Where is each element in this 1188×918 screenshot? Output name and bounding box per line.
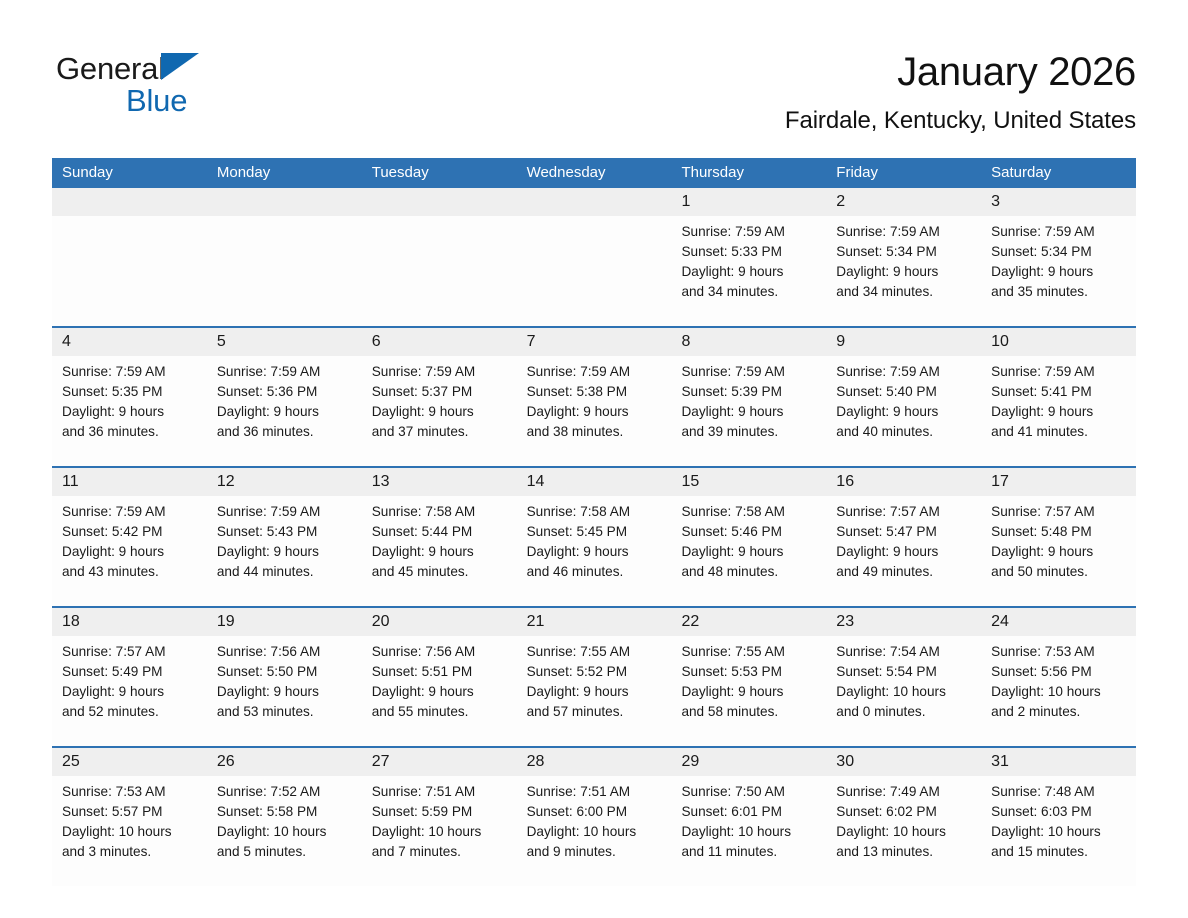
sunset-time: Sunset: 5:34 PM <box>836 242 973 262</box>
sunrise-time: Sunrise: 7:59 AM <box>62 502 199 522</box>
day-number: 19 <box>207 608 362 636</box>
sunrise-time: Sunrise: 7:55 AM <box>681 642 818 662</box>
daylight-duration-line2: and 11 minutes. <box>681 842 818 862</box>
day-cell[interactable]: 17Sunrise: 7:57 AMSunset: 5:48 PMDayligh… <box>981 468 1136 606</box>
sunset-time: Sunset: 6:00 PM <box>527 802 664 822</box>
daylight-duration-line1: Daylight: 9 hours <box>372 682 509 702</box>
day-number: 11 <box>52 468 207 496</box>
day-cell[interactable]: 16Sunrise: 7:57 AMSunset: 5:47 PMDayligh… <box>826 468 981 606</box>
weekday-header-monday: Monday <box>207 158 362 188</box>
day-cell[interactable]: 13Sunrise: 7:58 AMSunset: 5:44 PMDayligh… <box>362 468 517 606</box>
day-cell[interactable]: 20Sunrise: 7:56 AMSunset: 5:51 PMDayligh… <box>362 608 517 746</box>
sunrise-time: Sunrise: 7:59 AM <box>681 222 818 242</box>
sunrise-time: Sunrise: 7:57 AM <box>62 642 199 662</box>
sunrise-time: Sunrise: 7:59 AM <box>836 222 973 242</box>
daylight-duration-line1: Daylight: 9 hours <box>62 542 199 562</box>
daylight-duration-line1: Daylight: 9 hours <box>527 682 664 702</box>
daylight-duration-line2: and 7 minutes. <box>372 842 509 862</box>
day-number <box>362 188 517 216</box>
sunset-time: Sunset: 5:36 PM <box>217 382 354 402</box>
day-cell[interactable]: 24Sunrise: 7:53 AMSunset: 5:56 PMDayligh… <box>981 608 1136 746</box>
sunrise-time: Sunrise: 7:59 AM <box>991 362 1128 382</box>
day-number: 27 <box>362 748 517 776</box>
day-details: Sunrise: 7:56 AMSunset: 5:51 PMDaylight:… <box>362 636 517 722</box>
sunrise-time: Sunrise: 7:56 AM <box>217 642 354 662</box>
day-details: Sunrise: 7:56 AMSunset: 5:50 PMDaylight:… <box>207 636 362 722</box>
day-cell[interactable]: 10Sunrise: 7:59 AMSunset: 5:41 PMDayligh… <box>981 328 1136 466</box>
day-number: 2 <box>826 188 981 216</box>
page-header: General Blue January 2026 Fairdale, Kent… <box>0 0 1188 100</box>
daylight-duration-line1: Daylight: 9 hours <box>681 542 818 562</box>
sunrise-time: Sunrise: 7:59 AM <box>217 502 354 522</box>
sunrise-time: Sunrise: 7:59 AM <box>372 362 509 382</box>
day-details: Sunrise: 7:58 AMSunset: 5:44 PMDaylight:… <box>362 496 517 582</box>
day-number: 16 <box>826 468 981 496</box>
daylight-duration-line2: and 55 minutes. <box>372 702 509 722</box>
calendar-week-row: 4Sunrise: 7:59 AMSunset: 5:35 PMDaylight… <box>52 326 1136 466</box>
weekday-header-thursday: Thursday <box>671 158 826 188</box>
daylight-duration-line1: Daylight: 9 hours <box>372 402 509 422</box>
day-cell[interactable]: 11Sunrise: 7:59 AMSunset: 5:42 PMDayligh… <box>52 468 207 606</box>
sunset-time: Sunset: 5:44 PM <box>372 522 509 542</box>
day-details: Sunrise: 7:57 AMSunset: 5:47 PMDaylight:… <box>826 496 981 582</box>
daylight-duration-line1: Daylight: 10 hours <box>217 822 354 842</box>
weekday-header-tuesday: Tuesday <box>362 158 517 188</box>
weekday-header-saturday: Saturday <box>981 158 1136 188</box>
daylight-duration-line2: and 5 minutes. <box>217 842 354 862</box>
day-details: Sunrise: 7:52 AMSunset: 5:58 PMDaylight:… <box>207 776 362 862</box>
generalblue-logo[interactable]: General Blue <box>56 52 236 118</box>
calendar-week-row: 1Sunrise: 7:59 AMSunset: 5:33 PMDaylight… <box>52 188 1136 326</box>
day-details: Sunrise: 7:54 AMSunset: 5:54 PMDaylight:… <box>826 636 981 722</box>
sunset-time: Sunset: 5:43 PM <box>217 522 354 542</box>
day-details: Sunrise: 7:59 AMSunset: 5:33 PMDaylight:… <box>671 216 826 302</box>
daylight-duration-line1: Daylight: 9 hours <box>681 262 818 282</box>
sunset-time: Sunset: 5:33 PM <box>681 242 818 262</box>
sunset-time: Sunset: 5:52 PM <box>527 662 664 682</box>
sunrise-time: Sunrise: 7:50 AM <box>681 782 818 802</box>
sunrise-time: Sunrise: 7:49 AM <box>836 782 973 802</box>
day-number <box>207 188 362 216</box>
daylight-duration-line2: and 44 minutes. <box>217 562 354 582</box>
daylight-duration-line2: and 48 minutes. <box>681 562 818 582</box>
day-cell[interactable]: 15Sunrise: 7:58 AMSunset: 5:46 PMDayligh… <box>671 468 826 606</box>
weekday-header-wednesday: Wednesday <box>517 158 672 188</box>
sunset-time: Sunset: 6:01 PM <box>681 802 818 822</box>
sunrise-time: Sunrise: 7:57 AM <box>836 502 973 522</box>
sunset-time: Sunset: 5:50 PM <box>217 662 354 682</box>
day-number: 26 <box>207 748 362 776</box>
daylight-duration-line2: and 13 minutes. <box>836 842 973 862</box>
sunrise-time: Sunrise: 7:59 AM <box>836 362 973 382</box>
day-details: Sunrise: 7:58 AMSunset: 5:45 PMDaylight:… <box>517 496 672 582</box>
calendar-week-row: 18Sunrise: 7:57 AMSunset: 5:49 PMDayligh… <box>52 606 1136 746</box>
logo-text-general: General <box>56 51 165 86</box>
day-details: Sunrise: 7:59 AMSunset: 5:35 PMDaylight:… <box>52 356 207 442</box>
daylight-duration-line2: and 46 minutes. <box>527 562 664 582</box>
day-cell[interactable]: 2Sunrise: 7:59 AMSunset: 5:34 PMDaylight… <box>826 188 981 326</box>
sunset-time: Sunset: 5:59 PM <box>372 802 509 822</box>
daylight-duration-line1: Daylight: 9 hours <box>217 542 354 562</box>
sunrise-time: Sunrise: 7:48 AM <box>991 782 1128 802</box>
daylight-duration-line2: and 39 minutes. <box>681 422 818 442</box>
day-details: Sunrise: 7:48 AMSunset: 6:03 PMDaylight:… <box>981 776 1136 862</box>
day-number: 12 <box>207 468 362 496</box>
day-number: 24 <box>981 608 1136 636</box>
day-details <box>517 216 672 222</box>
weekday-header-row: SundayMondayTuesdayWednesdayThursdayFrid… <box>52 158 1136 188</box>
sunset-time: Sunset: 5:58 PM <box>217 802 354 822</box>
sunset-time: Sunset: 5:42 PM <box>62 522 199 542</box>
daylight-duration-line2: and 34 minutes. <box>681 282 818 302</box>
daylight-duration-line1: Daylight: 10 hours <box>62 822 199 842</box>
sunrise-time: Sunrise: 7:52 AM <box>217 782 354 802</box>
daylight-duration-line1: Daylight: 9 hours <box>681 682 818 702</box>
daylight-duration-line1: Daylight: 9 hours <box>991 262 1128 282</box>
day-number: 15 <box>671 468 826 496</box>
daylight-duration-line2: and 37 minutes. <box>372 422 509 442</box>
day-details: Sunrise: 7:59 AMSunset: 5:39 PMDaylight:… <box>671 356 826 442</box>
sunset-time: Sunset: 5:46 PM <box>681 522 818 542</box>
day-cell[interactable]: 23Sunrise: 7:54 AMSunset: 5:54 PMDayligh… <box>826 608 981 746</box>
daylight-duration-line1: Daylight: 10 hours <box>836 822 973 842</box>
day-cell[interactable]: 9Sunrise: 7:59 AMSunset: 5:40 PMDaylight… <box>826 328 981 466</box>
day-details: Sunrise: 7:59 AMSunset: 5:42 PMDaylight:… <box>52 496 207 582</box>
daylight-duration-line1: Daylight: 9 hours <box>991 542 1128 562</box>
day-cell[interactable]: 22Sunrise: 7:55 AMSunset: 5:53 PMDayligh… <box>671 608 826 746</box>
calendar-week-row: 11Sunrise: 7:59 AMSunset: 5:42 PMDayligh… <box>52 466 1136 606</box>
sunrise-time: Sunrise: 7:59 AM <box>217 362 354 382</box>
sunset-time: Sunset: 5:45 PM <box>527 522 664 542</box>
daylight-duration-line2: and 36 minutes. <box>217 422 354 442</box>
logo-text-blue: Blue <box>56 84 236 118</box>
sunrise-time: Sunrise: 7:58 AM <box>527 502 664 522</box>
daylight-duration-line2: and 35 minutes. <box>991 282 1128 302</box>
logo-line-one: General <box>56 52 236 86</box>
day-cell[interactable]: 14Sunrise: 7:58 AMSunset: 5:45 PMDayligh… <box>517 468 672 606</box>
day-number: 7 <box>517 328 672 356</box>
day-number: 9 <box>826 328 981 356</box>
daylight-duration-line2: and 53 minutes. <box>217 702 354 722</box>
sunset-time: Sunset: 5:47 PM <box>836 522 973 542</box>
day-details <box>52 216 207 222</box>
day-cell[interactable]: 26Sunrise: 7:52 AMSunset: 5:58 PMDayligh… <box>207 748 362 886</box>
day-details: Sunrise: 7:53 AMSunset: 5:57 PMDaylight:… <box>52 776 207 862</box>
day-cell[interactable]: 1Sunrise: 7:59 AMSunset: 5:33 PMDaylight… <box>671 188 826 326</box>
sunrise-time: Sunrise: 7:53 AM <box>62 782 199 802</box>
day-number: 3 <box>981 188 1136 216</box>
daylight-duration-line2: and 43 minutes. <box>62 562 199 582</box>
day-number: 5 <box>207 328 362 356</box>
sunset-time: Sunset: 5:53 PM <box>681 662 818 682</box>
day-cell[interactable]: 31Sunrise: 7:48 AMSunset: 6:03 PMDayligh… <box>981 748 1136 886</box>
calendar-week-row: 25Sunrise: 7:53 AMSunset: 5:57 PMDayligh… <box>52 746 1136 886</box>
day-cell[interactable]: 3Sunrise: 7:59 AMSunset: 5:34 PMDaylight… <box>981 188 1136 326</box>
day-cell[interactable]: 5Sunrise: 7:59 AMSunset: 5:36 PMDaylight… <box>207 328 362 466</box>
sunset-time: Sunset: 5:54 PM <box>836 662 973 682</box>
sunset-time: Sunset: 5:35 PM <box>62 382 199 402</box>
day-number: 20 <box>362 608 517 636</box>
sunrise-time: Sunrise: 7:59 AM <box>62 362 199 382</box>
calendar-grid: SundayMondayTuesdayWednesdayThursdayFrid… <box>52 158 1136 886</box>
day-details: Sunrise: 7:59 AMSunset: 5:34 PMDaylight:… <box>981 216 1136 302</box>
sunrise-time: Sunrise: 7:56 AM <box>372 642 509 662</box>
sunset-time: Sunset: 5:40 PM <box>836 382 973 402</box>
day-details: Sunrise: 7:59 AMSunset: 5:37 PMDaylight:… <box>362 356 517 442</box>
day-cell[interactable]: 28Sunrise: 7:51 AMSunset: 6:00 PMDayligh… <box>517 748 672 886</box>
sunrise-time: Sunrise: 7:54 AM <box>836 642 973 662</box>
day-number: 6 <box>362 328 517 356</box>
day-details: Sunrise: 7:50 AMSunset: 6:01 PMDaylight:… <box>671 776 826 862</box>
day-cell[interactable]: 19Sunrise: 7:56 AMSunset: 5:50 PMDayligh… <box>207 608 362 746</box>
day-number: 22 <box>671 608 826 636</box>
day-cell-empty <box>52 188 207 326</box>
daylight-duration-line2: and 34 minutes. <box>836 282 973 302</box>
day-details <box>362 216 517 222</box>
sunset-time: Sunset: 5:51 PM <box>372 662 509 682</box>
day-cell[interactable]: 25Sunrise: 7:53 AMSunset: 5:57 PMDayligh… <box>52 748 207 886</box>
daylight-duration-line2: and 3 minutes. <box>62 842 199 862</box>
sunset-time: Sunset: 5:49 PM <box>62 662 199 682</box>
daylight-duration-line2: and 2 minutes. <box>991 702 1128 722</box>
day-cell[interactable]: 30Sunrise: 7:49 AMSunset: 6:02 PMDayligh… <box>826 748 981 886</box>
daylight-duration-line1: Daylight: 9 hours <box>217 682 354 702</box>
daylight-duration-line1: Daylight: 10 hours <box>527 822 664 842</box>
daylight-duration-line1: Daylight: 10 hours <box>991 682 1128 702</box>
day-details: Sunrise: 7:59 AMSunset: 5:36 PMDaylight:… <box>207 356 362 442</box>
day-cell[interactable]: 4Sunrise: 7:59 AMSunset: 5:35 PMDaylight… <box>52 328 207 466</box>
daylight-duration-line2: and 38 minutes. <box>527 422 664 442</box>
day-number <box>517 188 672 216</box>
day-cell-empty <box>517 188 672 326</box>
day-number: 4 <box>52 328 207 356</box>
calendar-weeks: 1Sunrise: 7:59 AMSunset: 5:33 PMDaylight… <box>52 188 1136 886</box>
daylight-duration-line1: Daylight: 9 hours <box>836 402 973 422</box>
daylight-duration-line2: and 36 minutes. <box>62 422 199 442</box>
sunrise-time: Sunrise: 7:59 AM <box>681 362 818 382</box>
day-number: 30 <box>826 748 981 776</box>
daylight-duration-line2: and 0 minutes. <box>836 702 973 722</box>
sunset-time: Sunset: 5:48 PM <box>991 522 1128 542</box>
sunrise-time: Sunrise: 7:58 AM <box>681 502 818 522</box>
sunrise-time: Sunrise: 7:57 AM <box>991 502 1128 522</box>
daylight-duration-line1: Daylight: 9 hours <box>527 542 664 562</box>
day-number <box>52 188 207 216</box>
sunset-time: Sunset: 5:38 PM <box>527 382 664 402</box>
day-cell[interactable]: 12Sunrise: 7:59 AMSunset: 5:43 PMDayligh… <box>207 468 362 606</box>
day-cell[interactable]: 8Sunrise: 7:59 AMSunset: 5:39 PMDaylight… <box>671 328 826 466</box>
daylight-duration-line2: and 40 minutes. <box>836 422 973 442</box>
location-subtitle: Fairdale, Kentucky, United States <box>785 104 1136 138</box>
sunset-time: Sunset: 5:37 PM <box>372 382 509 402</box>
daylight-duration-line1: Daylight: 10 hours <box>681 822 818 842</box>
daylight-duration-line1: Daylight: 9 hours <box>372 542 509 562</box>
blue-triangle-icon <box>161 53 199 80</box>
day-number: 28 <box>517 748 672 776</box>
daylight-duration-line1: Daylight: 9 hours <box>836 262 973 282</box>
day-number: 31 <box>981 748 1136 776</box>
weekday-header-friday: Friday <box>826 158 981 188</box>
day-details: Sunrise: 7:59 AMSunset: 5:38 PMDaylight:… <box>517 356 672 442</box>
day-cell-empty <box>207 188 362 326</box>
daylight-duration-line1: Daylight: 10 hours <box>836 682 973 702</box>
sunset-time: Sunset: 6:03 PM <box>991 802 1128 822</box>
day-number: 17 <box>981 468 1136 496</box>
daylight-duration-line1: Daylight: 9 hours <box>527 402 664 422</box>
day-number: 29 <box>671 748 826 776</box>
day-number: 13 <box>362 468 517 496</box>
day-details: Sunrise: 7:51 AMSunset: 5:59 PMDaylight:… <box>362 776 517 862</box>
daylight-duration-line2: and 49 minutes. <box>836 562 973 582</box>
day-number: 25 <box>52 748 207 776</box>
calendar-page: General Blue January 2026 Fairdale, Kent… <box>0 0 1188 918</box>
sunset-time: Sunset: 5:34 PM <box>991 242 1128 262</box>
day-details: Sunrise: 7:58 AMSunset: 5:46 PMDaylight:… <box>671 496 826 582</box>
daylight-duration-line1: Daylight: 9 hours <box>991 402 1128 422</box>
day-details: Sunrise: 7:55 AMSunset: 5:52 PMDaylight:… <box>517 636 672 722</box>
daylight-duration-line2: and 50 minutes. <box>991 562 1128 582</box>
daylight-duration-line1: Daylight: 9 hours <box>62 402 199 422</box>
day-details: Sunrise: 7:59 AMSunset: 5:34 PMDaylight:… <box>826 216 981 302</box>
sunrise-time: Sunrise: 7:59 AM <box>527 362 664 382</box>
sunrise-time: Sunrise: 7:59 AM <box>991 222 1128 242</box>
day-details: Sunrise: 7:59 AMSunset: 5:41 PMDaylight:… <box>981 356 1136 442</box>
daylight-duration-line2: and 9 minutes. <box>527 842 664 862</box>
page-title: January 2026 <box>785 48 1136 96</box>
day-details: Sunrise: 7:57 AMSunset: 5:48 PMDaylight:… <box>981 496 1136 582</box>
day-cell[interactable]: 18Sunrise: 7:57 AMSunset: 5:49 PMDayligh… <box>52 608 207 746</box>
day-cell[interactable]: 29Sunrise: 7:50 AMSunset: 6:01 PMDayligh… <box>671 748 826 886</box>
sunrise-time: Sunrise: 7:58 AM <box>372 502 509 522</box>
daylight-duration-line2: and 41 minutes. <box>991 422 1128 442</box>
daylight-duration-line1: Daylight: 9 hours <box>217 402 354 422</box>
sunset-time: Sunset: 5:56 PM <box>991 662 1128 682</box>
day-number: 14 <box>517 468 672 496</box>
sunrise-time: Sunrise: 7:51 AM <box>527 782 664 802</box>
day-cell[interactable]: 21Sunrise: 7:55 AMSunset: 5:52 PMDayligh… <box>517 608 672 746</box>
day-cell[interactable]: 7Sunrise: 7:59 AMSunset: 5:38 PMDaylight… <box>517 328 672 466</box>
day-number: 21 <box>517 608 672 636</box>
daylight-duration-line2: and 57 minutes. <box>527 702 664 722</box>
weekday-header-sunday: Sunday <box>52 158 207 188</box>
daylight-duration-line2: and 52 minutes. <box>62 702 199 722</box>
day-details <box>207 216 362 222</box>
daylight-duration-line1: Daylight: 9 hours <box>62 682 199 702</box>
day-cell-empty <box>362 188 517 326</box>
daylight-duration-line1: Daylight: 10 hours <box>372 822 509 842</box>
sunset-time: Sunset: 5:57 PM <box>62 802 199 822</box>
sunset-time: Sunset: 5:39 PM <box>681 382 818 402</box>
day-cell[interactable]: 27Sunrise: 7:51 AMSunset: 5:59 PMDayligh… <box>362 748 517 886</box>
daylight-duration-line1: Daylight: 9 hours <box>681 402 818 422</box>
daylight-duration-line1: Daylight: 10 hours <box>991 822 1128 842</box>
daylight-duration-line2: and 45 minutes. <box>372 562 509 582</box>
day-number: 8 <box>671 328 826 356</box>
day-number: 18 <box>52 608 207 636</box>
daylight-duration-line1: Daylight: 9 hours <box>836 542 973 562</box>
day-details: Sunrise: 7:49 AMSunset: 6:02 PMDaylight:… <box>826 776 981 862</box>
day-details: Sunrise: 7:59 AMSunset: 5:40 PMDaylight:… <box>826 356 981 442</box>
sunset-time: Sunset: 6:02 PM <box>836 802 973 822</box>
sunrise-time: Sunrise: 7:51 AM <box>372 782 509 802</box>
day-number: 10 <box>981 328 1136 356</box>
daylight-duration-line2: and 58 minutes. <box>681 702 818 722</box>
day-details: Sunrise: 7:57 AMSunset: 5:49 PMDaylight:… <box>52 636 207 722</box>
day-details: Sunrise: 7:53 AMSunset: 5:56 PMDaylight:… <box>981 636 1136 722</box>
day-number: 1 <box>671 188 826 216</box>
sunset-time: Sunset: 5:41 PM <box>991 382 1128 402</box>
sunrise-time: Sunrise: 7:55 AM <box>527 642 664 662</box>
day-details: Sunrise: 7:51 AMSunset: 6:00 PMDaylight:… <box>517 776 672 862</box>
day-number: 23 <box>826 608 981 636</box>
day-cell[interactable]: 6Sunrise: 7:59 AMSunset: 5:37 PMDaylight… <box>362 328 517 466</box>
title-block: January 2026 Fairdale, Kentucky, United … <box>785 48 1136 138</box>
day-details: Sunrise: 7:55 AMSunset: 5:53 PMDaylight:… <box>671 636 826 722</box>
sunrise-time: Sunrise: 7:53 AM <box>991 642 1128 662</box>
day-details: Sunrise: 7:59 AMSunset: 5:43 PMDaylight:… <box>207 496 362 582</box>
daylight-duration-line2: and 15 minutes. <box>991 842 1128 862</box>
